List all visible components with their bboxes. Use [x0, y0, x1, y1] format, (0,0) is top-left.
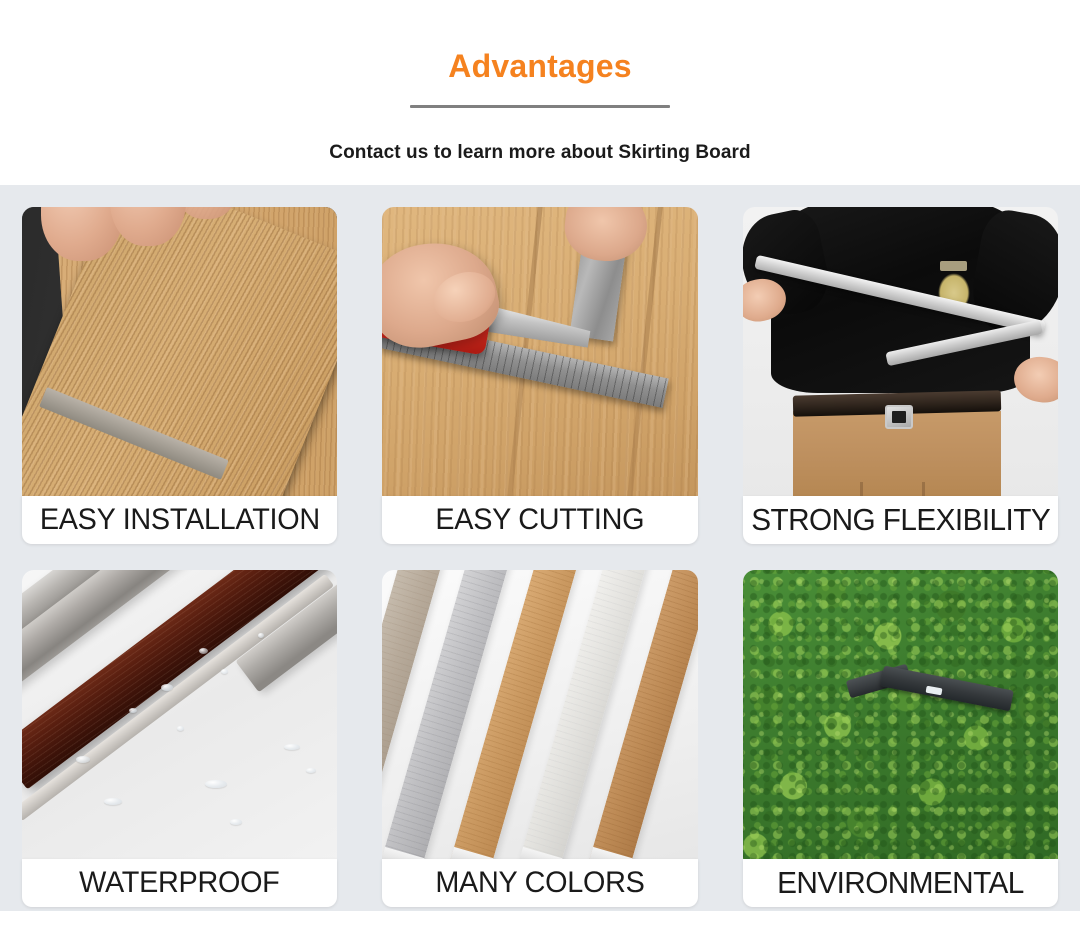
page-title: Advantages: [0, 46, 1080, 86]
waterproof-photo: [22, 570, 337, 870]
easy-installation-photo: [22, 207, 337, 507]
water-droplet: [221, 669, 228, 674]
title-divider: [410, 105, 670, 108]
card-caption: EASY CUTTING: [382, 496, 697, 544]
card-caption: EASY INSTALLATION: [22, 496, 337, 544]
environmental-photo: [743, 570, 1058, 870]
card-caption: WATERPROOF: [22, 859, 337, 907]
water-droplet: [104, 798, 122, 805]
card-caption-label: EASY CUTTING: [436, 503, 645, 537]
hand-icon: [562, 207, 651, 265]
card-caption: ENVIRONMENTAL: [743, 859, 1058, 907]
water-droplet: [230, 819, 242, 825]
advantage-card-easy-cutting[interactable]: EASY CUTTING: [382, 207, 697, 544]
forest-canopy-texture: [743, 570, 1058, 870]
card-caption-label: EASY INSTALLATION: [40, 503, 320, 537]
easy-cutting-photo: [382, 207, 697, 507]
belt-buckle: [885, 405, 913, 429]
card-caption-label: ENVIRONMENTAL: [777, 865, 1024, 901]
water-droplet: [177, 726, 184, 731]
card-caption-label: WATERPROOF: [80, 866, 280, 900]
advantages-page: Advantages Contact us to learn more abou…: [0, 0, 1080, 937]
page-subtitle: Contact us to learn more about Skirting …: [0, 140, 1080, 166]
water-droplet: [76, 756, 90, 763]
many-colors-photo: [382, 570, 697, 870]
section-header: Advantages Contact us to learn more abou…: [0, 0, 1080, 185]
water-droplet: [199, 648, 208, 654]
advantages-grid: EASY INSTALLATION: [22, 207, 1058, 907]
water-droplet: [205, 780, 227, 788]
advantages-grid-section: EASY INSTALLATION: [0, 185, 1080, 911]
water-droplet: [306, 768, 316, 773]
card-caption: STRONG FLEXIBILITY: [743, 496, 1058, 544]
water-droplet: [129, 708, 137, 713]
card-caption: MANY COLORS: [382, 859, 697, 907]
advantage-card-many-colors[interactable]: MANY COLORS: [382, 570, 697, 907]
strong-flexibility-photo: [743, 207, 1058, 507]
water-droplet: [284, 744, 300, 750]
advantage-card-strong-flexibility[interactable]: STRONG FLEXIBILITY: [743, 207, 1058, 544]
card-caption-label: MANY COLORS: [435, 866, 644, 900]
card-caption-label: STRONG FLEXIBILITY: [751, 502, 1050, 538]
advantage-card-easy-installation[interactable]: EASY INSTALLATION: [22, 207, 337, 544]
advantage-card-environmental[interactable]: ENVIRONMENTAL: [743, 570, 1058, 907]
water-droplet: [161, 684, 173, 691]
advantage-card-waterproof[interactable]: WATERPROOF: [22, 570, 337, 907]
